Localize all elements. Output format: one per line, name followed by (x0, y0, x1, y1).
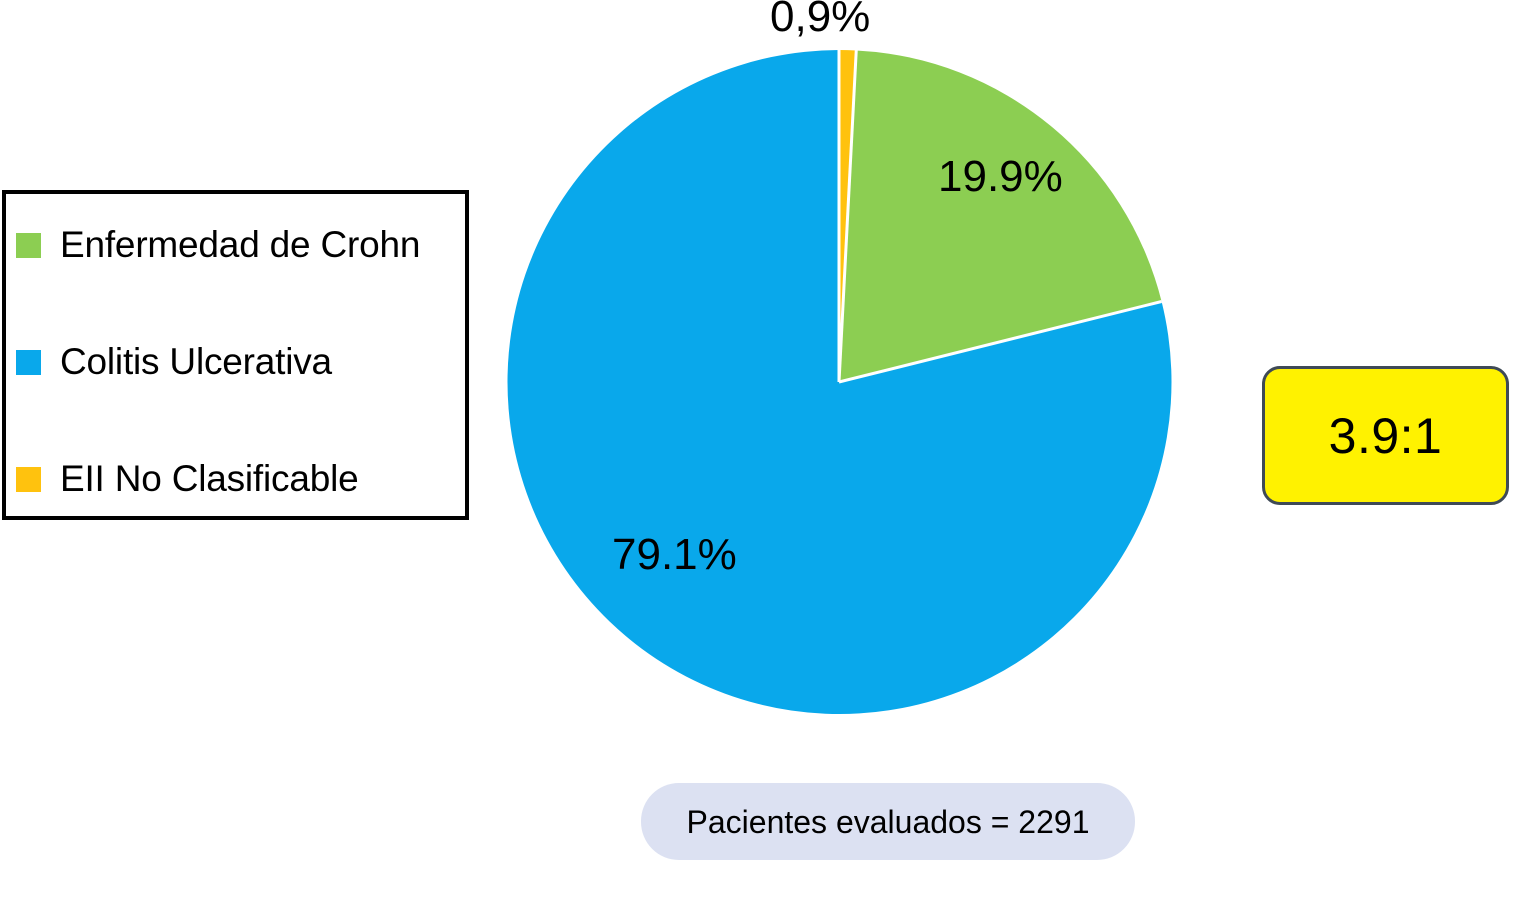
legend-item-enfermedad-de-crohn[interactable]: Enfermedad de Crohn (16, 222, 420, 268)
legend-swatch-blue (16, 350, 41, 375)
pie-label-enfermedad-de-crohn: 19.9% (938, 152, 1063, 202)
pie-chart (505, 48, 1173, 716)
total-patients-pill: Pacientes evaluados = 2291 (641, 783, 1135, 860)
pie-label-eii-no-clasificable: 0,9% (770, 0, 870, 42)
ratio-value: 3.9:1 (1329, 409, 1443, 463)
legend: Enfermedad de Crohn Colitis Ulcerativa E… (2, 190, 469, 520)
legend-label-colitis-ulcerativa: Colitis Ulcerativa (60, 340, 332, 384)
total-patients-text: Pacientes evaluados = 2291 (687, 804, 1090, 840)
pie-chart-svg (505, 48, 1173, 716)
legend-item-colitis-ulcerativa[interactable]: Colitis Ulcerativa (16, 339, 332, 385)
legend-label-eii-no-clasificable: EII No Clasificable (60, 457, 359, 501)
legend-swatch-orange (16, 467, 41, 492)
legend-item-eii-no-clasificable[interactable]: EII No Clasificable (16, 456, 359, 502)
legend-label-enfermedad-de-crohn: Enfermedad de Crohn (60, 223, 420, 267)
pie-label-colitis-ulcerativa: 79.1% (612, 530, 737, 580)
legend-swatch-green (16, 233, 41, 258)
ratio-callout-box: 3.9:1 (1262, 366, 1509, 505)
